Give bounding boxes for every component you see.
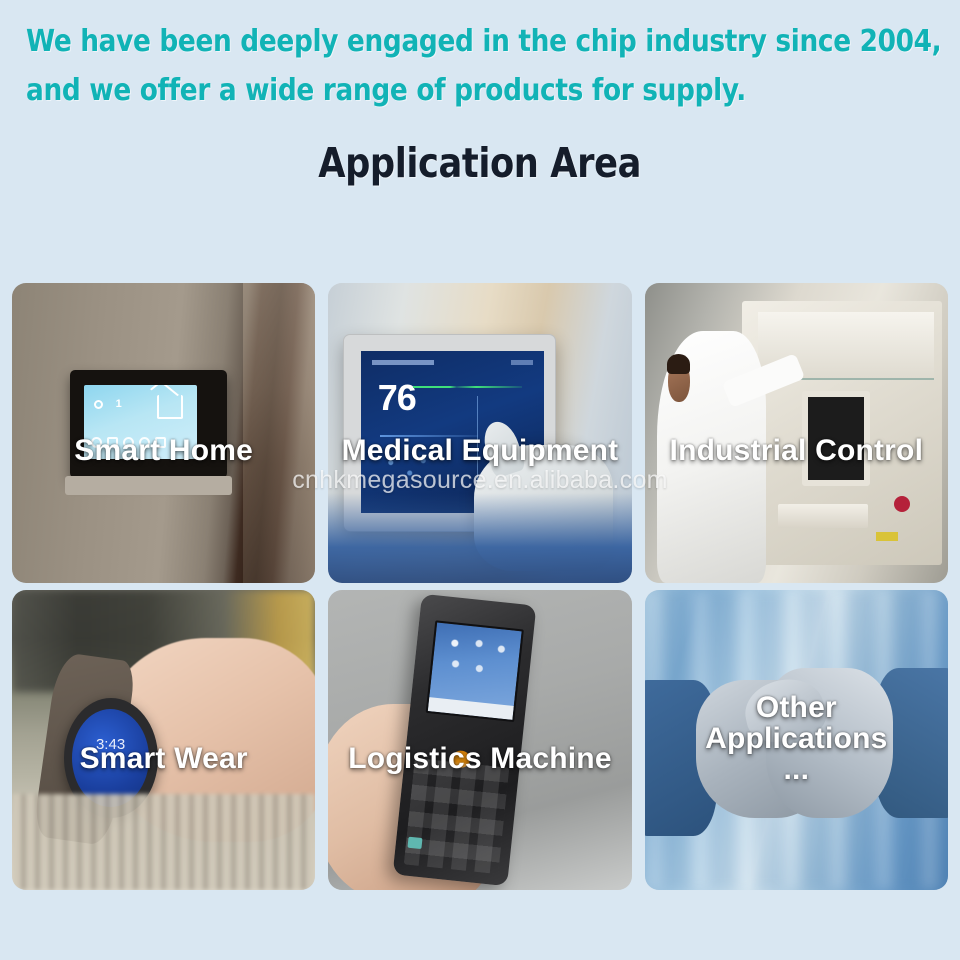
application-area-grid: 1 Smart Home 76 [12, 283, 948, 890]
monitor-top-bar [372, 360, 434, 365]
medical-scene: 76 [328, 283, 631, 583]
logistics-scene [328, 590, 631, 890]
wall-panel-icon: 1 [70, 370, 228, 478]
pda-device-icon [393, 594, 537, 887]
pda-desktop-icons [438, 632, 514, 693]
pda-indicator-icon [407, 836, 423, 849]
technician-body [657, 331, 766, 583]
headline-line-1: We have been deeply engaged in the chip … [26, 18, 825, 67]
page-title: Application Area [319, 139, 642, 187]
monitor-top-bar-right [511, 360, 533, 365]
ecg-waveform [413, 386, 523, 388]
camera-icon [139, 437, 150, 448]
other-applications-scene [645, 590, 948, 890]
pda-screen [426, 621, 524, 723]
smartwatch-icon: 3:43 [64, 698, 158, 818]
card-other-applications[interactable]: Other Applications ... [645, 590, 948, 890]
pda-keypad-icon [404, 758, 509, 874]
house-icon [157, 395, 183, 419]
smart-wear-scene: 3:43 [12, 590, 315, 890]
light-icon [107, 437, 118, 448]
fan-icon [91, 437, 102, 448]
warning-label-icon [876, 532, 898, 541]
spo2-waveform [380, 435, 479, 437]
watch-face: 3:43 [72, 709, 149, 807]
panel-reading: 1 [116, 398, 122, 410]
card-industrial-control[interactable]: Industrial Control [645, 283, 948, 583]
card-smart-wear[interactable]: 3:43 Smart Wear [12, 590, 315, 890]
thermostat-icon [155, 437, 166, 448]
monitor-divider [477, 396, 479, 481]
factory-machine [742, 301, 942, 565]
panel-screen: 1 [84, 385, 198, 458]
card-medical-equipment[interactable]: 76 Medical Equipment [328, 283, 631, 583]
card-logistics-machine[interactable]: Logistics Machine [328, 590, 631, 890]
panel-icon-row [91, 435, 191, 448]
smart-home-scene: 1 [12, 283, 315, 583]
patient-monitor-icon: 76 [343, 334, 555, 532]
headline-line-2: and we offer a wide range of products fo… [26, 67, 825, 116]
emergency-stop-icon [894, 496, 910, 512]
technician-hair [667, 354, 690, 374]
watch-time: 3:43 [72, 736, 149, 753]
page-header: We have been deeply engaged in the chip … [0, 0, 960, 187]
monitor-value: 76 [378, 377, 416, 419]
section-title-wrap: Application Area [26, 139, 934, 187]
lock-icon [123, 437, 134, 448]
monitor-data-dots [380, 452, 435, 488]
sun-icon [94, 400, 103, 409]
card-smart-home[interactable]: 1 Smart Home [12, 283, 315, 583]
industrial-scene [645, 283, 948, 583]
machine-monitor-icon [802, 391, 870, 486]
machine-keyboard-icon [778, 504, 868, 528]
